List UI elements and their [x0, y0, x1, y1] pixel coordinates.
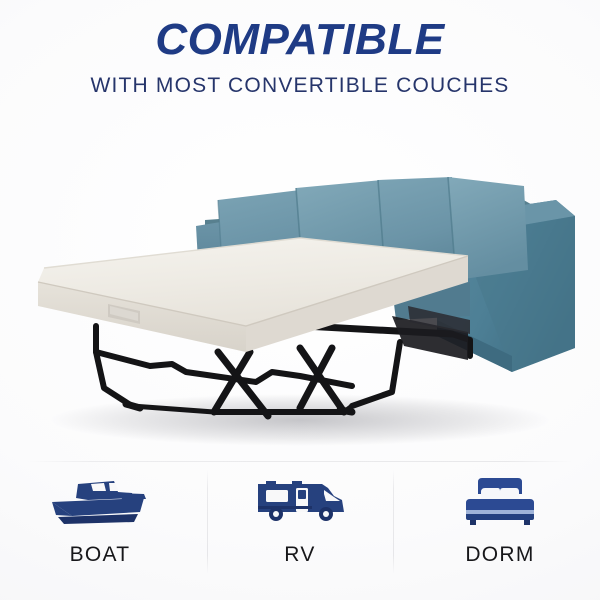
sleeper-sofa-illustration	[0, 120, 600, 450]
compatibility-item-dorm: DORM	[400, 462, 600, 582]
compatibility-label-rv: RV	[284, 544, 315, 565]
marketing-image: COMPATIBLE WITH MOST CONVERTIBLE COUCHES	[0, 0, 600, 600]
compatibility-icon-row: BOAT	[0, 462, 600, 582]
page-subtitle: WITH MOST CONVERTIBLE COUCHES	[0, 75, 600, 96]
compatibility-item-rv: RV	[200, 462, 400, 582]
compatibility-label-dorm: DORM	[465, 544, 534, 565]
hero-product-image	[0, 120, 600, 450]
rv-icon	[248, 470, 352, 532]
page-title: COMPATIBLE	[0, 18, 600, 62]
compatibility-label-boat: BOAT	[70, 544, 131, 565]
bed-icon	[448, 470, 552, 532]
compatibility-item-boat: BOAT	[0, 462, 200, 582]
boat-icon	[48, 470, 152, 532]
header: COMPATIBLE WITH MOST CONVERTIBLE COUCHES	[0, 18, 600, 96]
